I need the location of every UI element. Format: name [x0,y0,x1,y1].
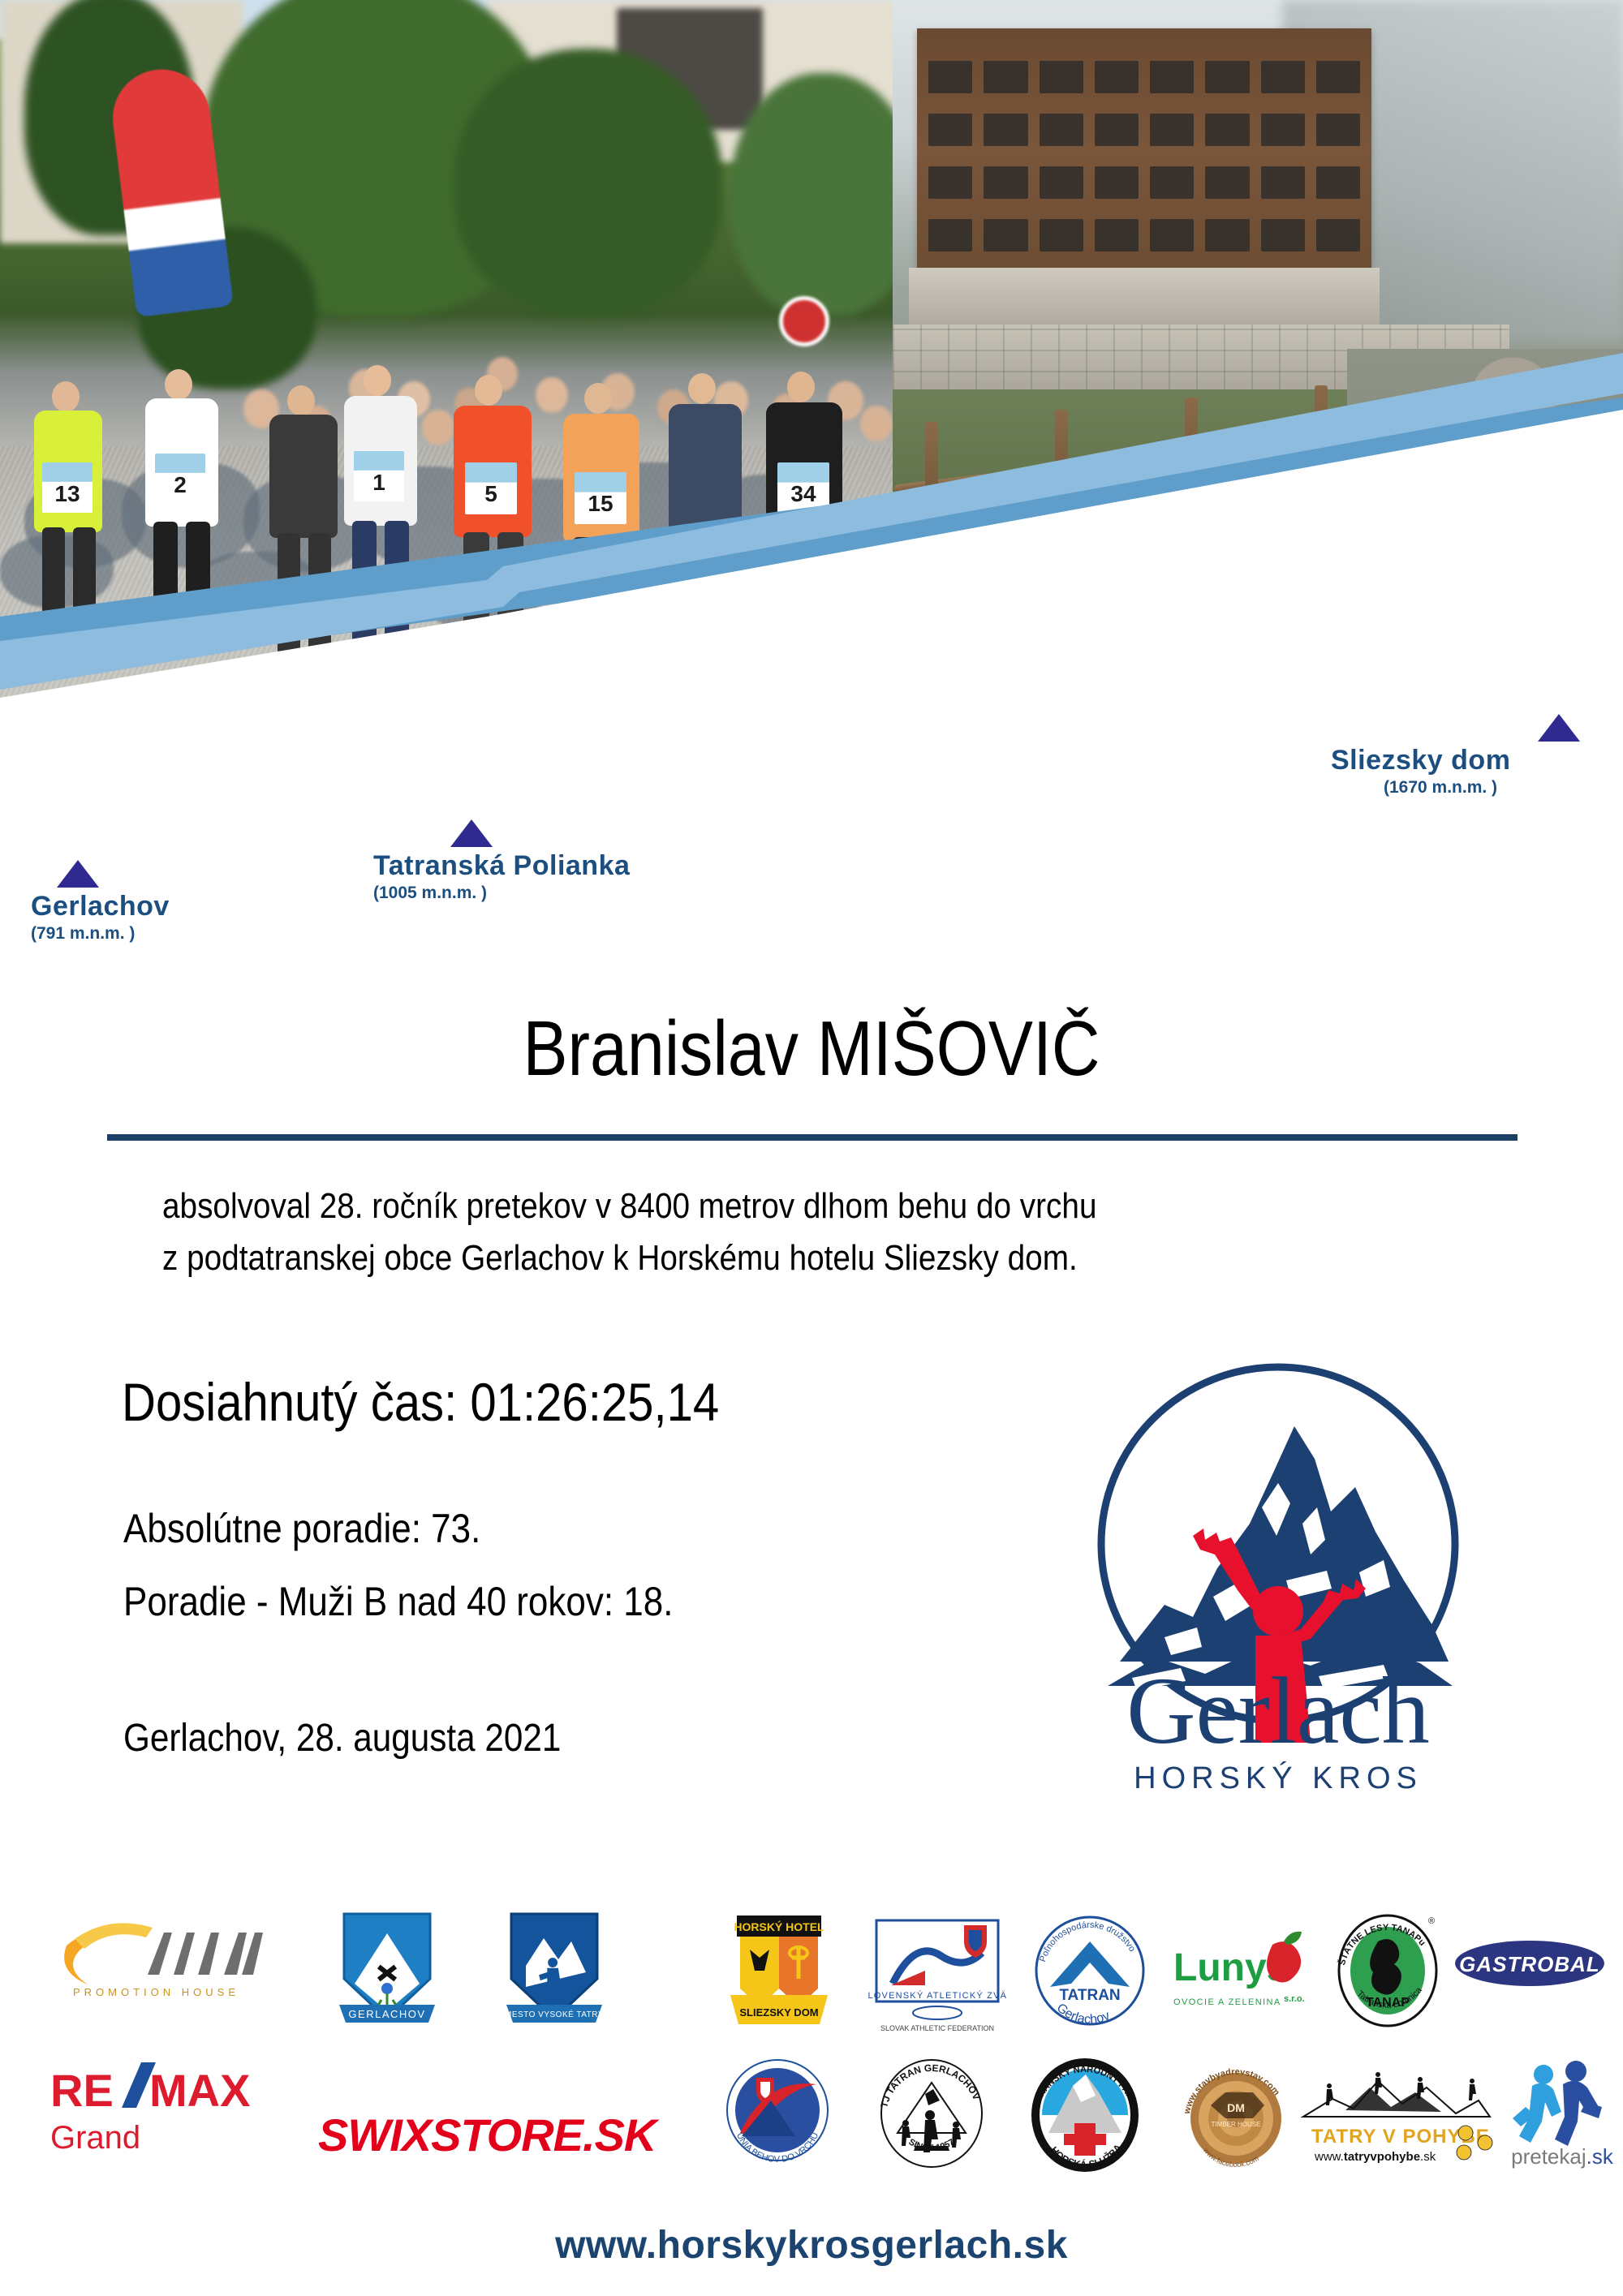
event-website: www.horskykrosgerlach.sk [0,2223,1623,2268]
category-rank: Poradie - Muži B nad 40 rokov: 18. [123,1578,673,1625]
svg-text:®: ® [1428,1916,1435,1926]
sponsor-horska-sluzba: TATRANSKÝ NÁRODNÝ PARK HORSKÁ SLUŽBA [1024,2055,1146,2177]
absolute-rank: Absolútne poradie: 73. [123,1505,480,1552]
svg-text:www.tatryvpohybe.sk: www.tatryvpohybe.sk [1314,2150,1436,2164]
svg-text:GERLACHOV: GERLACHOV [348,2008,425,2020]
logo-wordmark: Gerlach [1126,1658,1429,1764]
svg-text:TATRAN: TATRAN [1059,1987,1120,2004]
logo-subtitle: HORSKÝ KROS [1134,1761,1423,1795]
svg-text:SWIXSTORE.SK: SWIXSTORE.SK [318,2109,660,2161]
svg-text:SLOVAK ATHLETIC FEDERATION: SLOVAK ATHLETIC FEDERATION [880,2024,994,2032]
description-line-2: z podtatranskej obce Gerlachov k Horském… [162,1232,1333,1284]
marker-triangle-icon [57,860,99,888]
svg-text:MAX: MAX [149,2065,250,2116]
elevation-profile-band [0,349,1623,755]
svg-text:Grand: Grand [50,2120,140,2156]
marker-triangle-icon [450,819,493,847]
sponsor-stavbyadrevstav: DM TIMBER HOUSE www.stavbyadrevstav.com … [1175,2057,1297,2178]
sponsor-sliezsky-dom: HORSKÝ HOTEL SLIEZSKY DOM [722,1911,836,2040]
sponsor-ajla: PROMOTION HOUSE [50,1915,278,2004]
marker-altitude: (1670 m.n.m. ) [1384,778,1580,798]
svg-text:GASTROBAL: GASTROBAL [1459,1952,1600,1976]
sponsor-pretekaj-sk: pretekaj.sk [1501,2057,1623,2178]
svg-text:HORSKÝ HOTEL: HORSKÝ HOTEL [734,1920,824,1933]
svg-text:TIMBER HOUSE: TIMBER HOUSE [1212,2121,1261,2128]
sponsor-gerlachov-crest: GERLACHOV [334,1909,440,2039]
sponsor-unia-behov-do-vrchu: ÚNIA BEHOV DO VRCHU [721,2055,834,2177]
description-line-1: absolvoval 28. ročník pretekov v 8400 me… [162,1180,1333,1232]
finish-time: Dosiahnutý čas: 01:26:25,14 [122,1371,719,1433]
svg-text:SLOVENSKÝ ATLETICKÝ ZVÄZ: SLOVENSKÝ ATLETICKÝ ZVÄZ [868,1990,1006,2001]
sponsor-remax-grand: RE MAX Grand [50,2061,278,2166]
athlete-name: Branislav MIŠOVIČ [114,1004,1509,1094]
sponsor-mesto-vysoke-tatry: MESTO VYSOKÉ TATRY [502,1909,607,2039]
svg-text:RE: RE [50,2065,114,2116]
sponsor-swixstore: SWIXSTORE.SK [318,2104,675,2169]
svg-text:pretekaj.sk: pretekaj.sk [1511,2144,1614,2169]
svg-text:OVOCIE A ZELENINA: OVOCIE A ZELENINA [1173,1997,1281,2007]
sponsor-logos: PROMOTION HOUSE GERLACHOV [0,1903,1623,2227]
marker-name: Sliezsky dom [1331,745,1580,776]
stop-sign-icon [779,296,829,346]
elevation-marker-tatranska-polianka: Tatranská Polianka (1005 m.n.m. ) [450,819,630,903]
svg-text:Gerlachov: Gerlachov [1054,2001,1113,2027]
place-and-date: Gerlachov, 28. augusta 2021 [123,1716,561,1761]
marker-altitude: (1005 m.n.m. ) [373,884,630,903]
sponsor-lunys: Lunys OVOCIE A ZELENINA s.r.o. [1169,1927,1311,2020]
sponsor-tj-tatran-gerlachov: TJ TATRAN GERLACHOV SINCE 1957 [875,2055,988,2177]
sponsor-pd-tatran-gerlachov: TATRAN Poľnohospodárske družstvo Gerlach… [1029,1912,1151,2034]
svg-text:SLIEZSKY DOM: SLIEZSKY DOM [739,2006,818,2019]
sponsor-stanne-lesy-tanapu: TANAP ŠTÁTNE LESY TANAPu Tatranská Lomni… [1331,1909,1444,2035]
elevation-marker-sliezsky-dom: Sliezsky dom (1670 m.n.m. ) [1538,714,1580,798]
sponsor-tagline: PROMOTION HOUSE [73,1986,239,1998]
marker-name: Gerlachov [31,891,170,922]
photo-banner: 13 2 1 5 [0,0,1623,755]
gerlach-horsky-kros-logo: Gerlach HORSKÝ KROS [1043,1337,1513,1816]
marker-triangle-icon [1538,714,1580,742]
elevation-marker-gerlachov: Gerlachov (791 m.n.m. ) [57,860,170,944]
title-divider [107,1134,1518,1141]
svg-text:s.r.o.: s.r.o. [1284,1994,1305,2004]
mountain-hotel-building [917,28,1371,272]
marker-name: Tatranská Polianka [373,850,630,882]
sponsor-tatry-v-pohybe: TATRY V POHYBE www.tatryvpohybe.sk [1297,2066,1500,2168]
svg-text:DM: DM [1227,2101,1245,2114]
marker-altitude: (791 m.n.m. ) [31,924,170,944]
sponsor-gastrobal: GASTROBAL [1453,1935,1607,1992]
sponsor-slovensky-atleticky-zvaz: SLOVENSKÝ ATLETICKÝ ZVÄZ SLOVAK ATHLETIC… [868,1914,1006,2036]
svg-text:MESTO VYSOKÉ TATRY: MESTO VYSOKÉ TATRY [505,2009,604,2019]
certificate-description: absolvoval 28. ročník pretekov v 8400 me… [162,1180,1333,1284]
